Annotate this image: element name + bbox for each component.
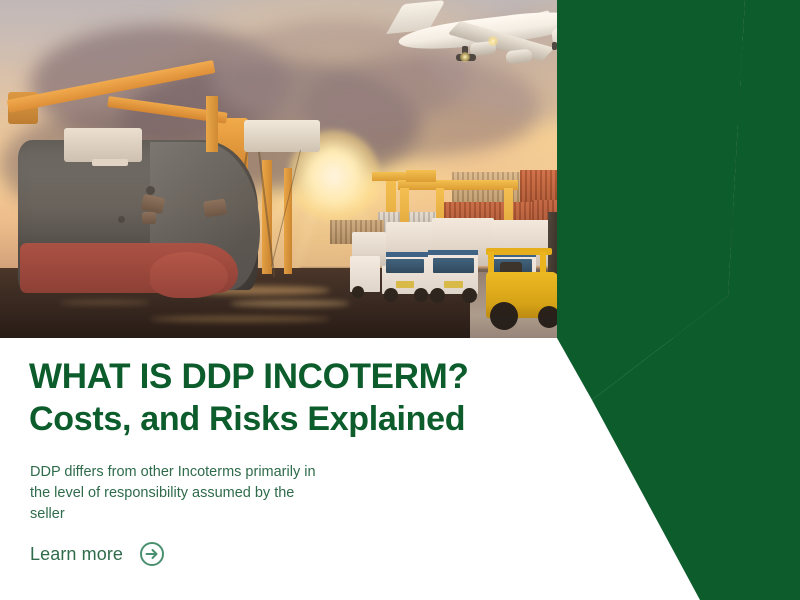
- cargo-ship-bulbous-bow: [150, 252, 228, 298]
- cargo-ship-anchor: [142, 212, 156, 224]
- shipping-container: [684, 130, 758, 170]
- forklift-wheel: [538, 306, 560, 328]
- delivery-truck-wheel: [384, 288, 398, 302]
- delivery-truck-wheel: [414, 288, 428, 302]
- description-text: DDP differs from other Incoterms primari…: [30, 462, 330, 525]
- delivery-truck-plate: [444, 281, 463, 288]
- shipping-container: [682, 210, 800, 248]
- cargo-ship-port-hole: [118, 216, 125, 223]
- delivery-truck-wheel: [352, 286, 364, 298]
- promo-banner: WHAT IS DDP INCOTERM? Costs, and Risks E…: [0, 0, 800, 600]
- page-title: WHAT IS DDP INCOTERM?: [29, 356, 469, 398]
- delivery-truck-plate: [396, 281, 414, 288]
- shipping-container: [678, 86, 754, 126]
- shipping-container: [584, 44, 668, 82]
- gantry-crane-housing: [244, 120, 320, 152]
- shipping-container: [590, 212, 682, 246]
- container-edge: [584, 40, 800, 45]
- forklift-mast: [564, 222, 573, 318]
- page-subtitle: Costs, and Risks Explained: [29, 398, 465, 440]
- shipping-container: [592, 86, 678, 126]
- straddle-carrier: [406, 170, 436, 182]
- shipping-container: [696, 172, 800, 210]
- delivery-truck-windshield: [433, 258, 474, 273]
- shipping-container: [520, 170, 598, 202]
- water-reflection: [230, 300, 350, 307]
- delivery-truck-stripe: [382, 252, 428, 257]
- water-reflection: [150, 316, 330, 322]
- shipping-container: [758, 130, 800, 170]
- delivery-truck-wheel: [430, 288, 445, 303]
- shipping-container: [600, 174, 696, 210]
- learn-more-button[interactable]: Learn more: [30, 541, 165, 567]
- delivery-truck-stripe: [428, 250, 478, 255]
- learn-more-label: Learn more: [30, 544, 123, 565]
- shipping-container: [668, 42, 748, 82]
- cargo-ship-anchor: [203, 199, 227, 218]
- arrow-right-circle-icon[interactable]: [139, 541, 165, 567]
- water-reflection: [60, 300, 150, 305]
- delivery-truck-wheel: [462, 288, 477, 303]
- text-content: WHAT IS DDP INCOTERM? Costs, and Risks E…: [0, 338, 560, 600]
- cargo-ship-superstructure: [64, 128, 142, 162]
- forklift-wheel: [490, 302, 518, 330]
- airplane-light: [488, 36, 498, 46]
- shipping-container: [748, 44, 800, 82]
- shipping-container: [754, 86, 800, 126]
- hero-image: [0, 0, 800, 338]
- shipping-container: [596, 130, 684, 170]
- airplane-light: [460, 52, 470, 62]
- crane-mast: [206, 96, 218, 152]
- airplane-landing-gear: [552, 42, 557, 50]
- delivery-truck-windshield: [386, 259, 424, 273]
- cargo-ship-railing: [92, 159, 128, 166]
